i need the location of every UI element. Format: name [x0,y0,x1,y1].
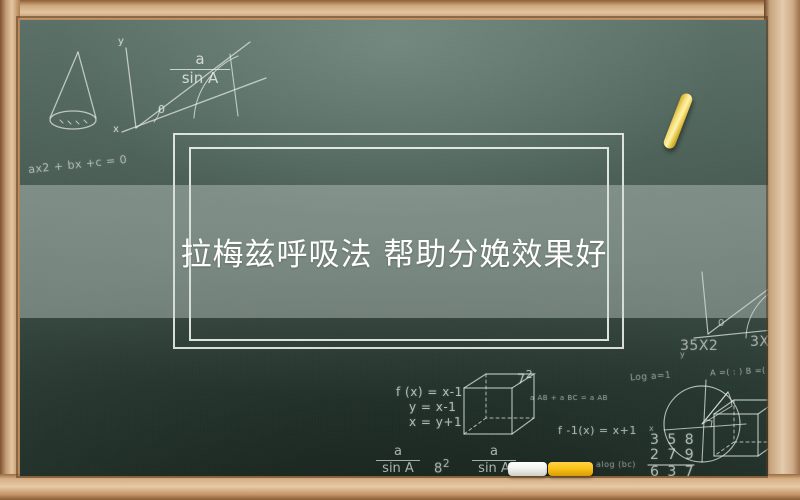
inverse-function: f -1(x) = x+1 [558,424,637,437]
angle-label-right: 0 [718,318,725,329]
eight-squared: 82 [434,457,450,476]
seven-exponent: 2 [526,368,533,381]
addition-row-3: 6 3 7 [650,464,696,476]
page-title: 拉梅兹呼吸法 帮助分娩效果好 [20,185,768,318]
tray-chalk-white [508,462,547,476]
frame-left-plank [0,0,20,500]
seven-squared: 72 [517,368,533,387]
multiplication-35x2: 35X2 [680,338,718,354]
frame-top-plank [0,0,800,20]
addition-row-2: 2 7 9 [650,447,696,463]
axis-label-x-topleft: x [113,124,119,135]
addition-row-1: 3 5 8 [650,432,696,448]
fraction-numerator: a [472,445,516,459]
seven-base: 7 [517,372,526,387]
eight-exponent: 2 [443,457,450,470]
eight-base: 8 [434,461,443,476]
quadratic-equation: ax2 + bx +c = 0 [28,153,128,176]
angle-label-topleft: 0 [158,103,166,116]
fraction-a-over-sinA-bottomleft: a sin A [376,445,420,475]
fraction-numerator: a [376,445,420,459]
chalkboard-scene: a sin A y x 0 ax2 + bx +c = 0 f (x) = x-… [0,0,800,500]
axis-label-y-bottomright: y [680,350,685,359]
angle-diagram-topleft [98,34,278,149]
multiplication-3x2: 3X2 [750,334,768,350]
ab-bc-identity: a AB + a BC = a AB [530,394,608,402]
tray-chalk-yellow [548,462,593,476]
function-x-eq: x = y+1 [409,415,462,429]
function-y-eq: y = x-1 [409,400,456,414]
frame-right-plank [764,0,800,500]
frame-bottom-ledge [0,474,800,500]
axis-label-y-topleft: y [118,36,124,47]
log-bc-expression: alog (bc) [596,460,636,469]
function-fx: f (x) = x-1 [396,385,463,399]
fraction-denominator: sin A [376,462,420,476]
cube-drawing-right [710,398,768,470]
